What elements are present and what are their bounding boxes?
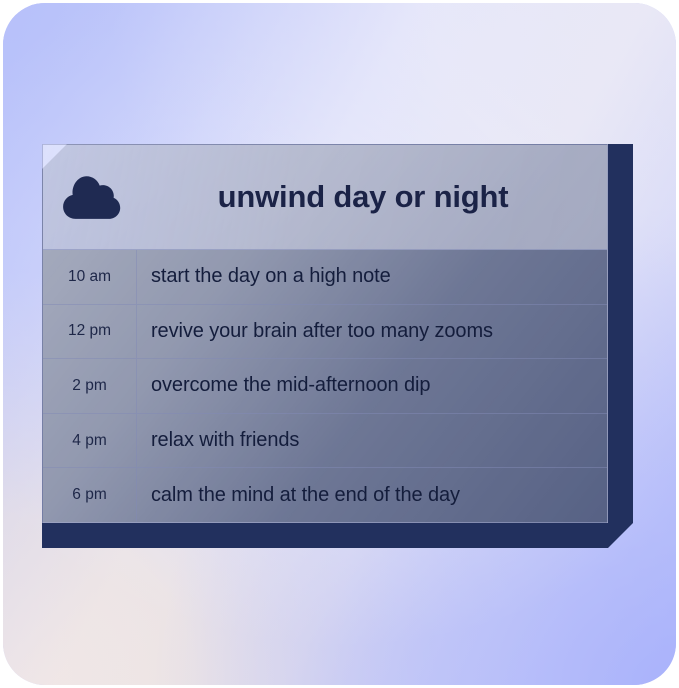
row-task: calm the mind at the end of the day — [137, 468, 607, 522]
row-time: 10 am — [43, 250, 137, 304]
table-row[interactable]: 2 pm overcome the mid-afternoon dip — [43, 359, 607, 414]
row-time: 4 pm — [43, 414, 137, 468]
row-task: start the day on a high note — [137, 250, 607, 304]
table-row[interactable]: 6 pm calm the mind at the end of the day — [43, 468, 607, 522]
table-row[interactable]: 4 pm relax with friends — [43, 414, 607, 469]
card-header-title-cell: unwind day or night — [137, 179, 607, 215]
page-title: unwind day or night — [218, 179, 509, 215]
row-time: 2 pm — [43, 359, 137, 413]
poster-canvas: unwind day or night 10 am start the day … — [0, 0, 679, 688]
schedule-card: unwind day or night 10 am start the day … — [42, 144, 608, 523]
row-task: relax with friends — [137, 414, 607, 468]
cloud-icon — [62, 173, 124, 221]
table-row[interactable]: 12 pm revive your brain after too many z… — [43, 305, 607, 360]
row-time: 12 pm — [43, 305, 137, 359]
card-header-icon-cell — [43, 173, 137, 221]
row-time: 6 pm — [43, 468, 137, 522]
table-row[interactable]: 10 am start the day on a high note — [43, 250, 607, 305]
schedule-rows: 10 am start the day on a high note 12 pm… — [43, 250, 607, 522]
row-task: revive your brain after too many zooms — [137, 305, 607, 359]
card-header: unwind day or night — [43, 145, 607, 250]
row-task: overcome the mid-afternoon dip — [137, 359, 607, 413]
